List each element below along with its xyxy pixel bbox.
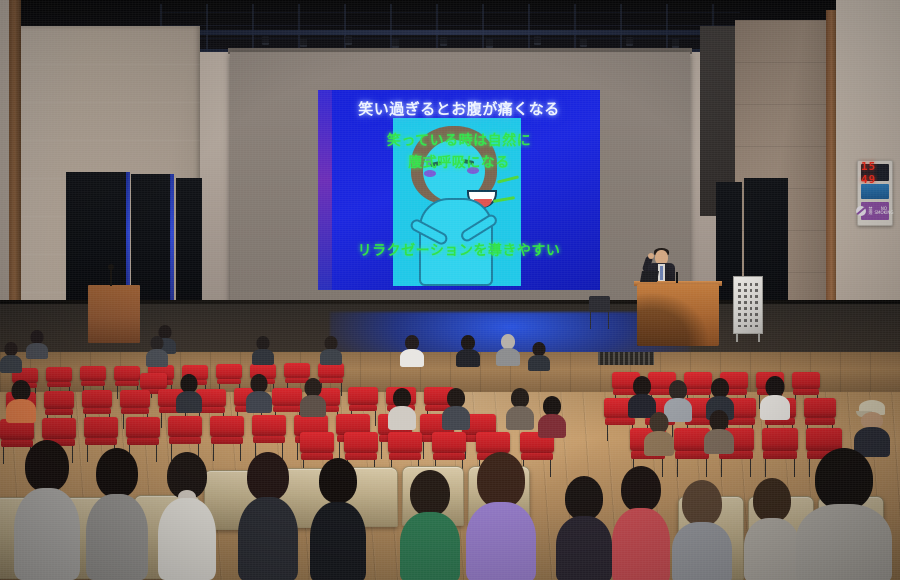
person-head — [461, 335, 475, 350]
audience-member — [506, 388, 534, 428]
podium-microphone — [676, 272, 678, 283]
audience-member — [456, 335, 480, 365]
audience-member — [496, 334, 520, 364]
audience-member-foreground — [466, 452, 536, 580]
audience-member-foreground — [14, 440, 80, 580]
audience-member — [704, 410, 734, 452]
person-head — [766, 376, 785, 397]
person-shoulders — [466, 502, 536, 580]
podium-laptop — [640, 271, 659, 282]
audience-member — [442, 388, 470, 428]
audience-member — [26, 330, 48, 358]
person-shoulders — [672, 522, 732, 580]
person-head — [31, 330, 44, 344]
person-head — [247, 452, 289, 501]
stage-signboard — [733, 276, 763, 334]
audience-member — [760, 376, 790, 418]
person-head — [565, 476, 603, 520]
person-shoulders — [252, 349, 274, 365]
no-smoking-sign: 禁 煙 NO SMOKING — [861, 202, 889, 220]
person-head — [511, 388, 529, 408]
audience-member — [388, 388, 416, 428]
person-shoulders — [796, 504, 892, 580]
audience-member-foreground — [86, 448, 148, 580]
person-head — [25, 440, 69, 492]
audience-member-foreground — [310, 458, 366, 580]
person-head — [257, 336, 270, 350]
person-shoulders — [146, 349, 168, 367]
stage-light-fixture — [672, 39, 679, 48]
person-shoulders — [644, 431, 674, 456]
wall-clock-unit: 15 49 禁 煙 NO SMOKING — [857, 160, 893, 226]
audience-member — [538, 396, 566, 436]
person-shoulders — [612, 508, 670, 580]
stage-floor-vent — [598, 352, 654, 365]
person-head — [815, 448, 873, 510]
person-shoulders — [26, 343, 48, 359]
person-shoulders — [388, 406, 416, 430]
person-shoulders — [0, 355, 22, 373]
person-head — [682, 480, 722, 526]
person-shoulders — [238, 497, 298, 580]
clock-time: 15 49 — [861, 160, 889, 186]
audience-member — [628, 376, 656, 416]
person-head — [325, 336, 338, 350]
person-head — [711, 378, 729, 398]
stage-light-fixture — [580, 38, 587, 47]
audience-member — [644, 412, 674, 454]
person-shoulders — [310, 502, 366, 580]
person-shoulders — [744, 518, 800, 580]
audience-member-foreground — [238, 452, 298, 580]
person-head — [501, 334, 515, 349]
person-shoulders — [86, 494, 148, 580]
no-smoking-icon — [856, 206, 866, 216]
person-shoulders — [528, 355, 550, 371]
cartoon-laugh-line — [497, 175, 519, 183]
person-head — [96, 448, 138, 498]
stage-chair — [589, 296, 610, 312]
signboard-vertical-text — [738, 283, 758, 327]
speaker-hand — [648, 253, 654, 259]
ceiling-lighting-grid — [160, 4, 740, 52]
person-shoulders — [246, 391, 272, 413]
audience-member — [6, 380, 36, 422]
person-shoulders — [456, 349, 480, 367]
audience-member — [320, 336, 342, 364]
signboard-legs — [736, 333, 760, 342]
person-head — [393, 388, 411, 408]
person-shoulders — [300, 395, 326, 417]
person-head — [151, 336, 164, 350]
audience-member-foreground — [158, 452, 216, 580]
person-shoulders — [400, 512, 460, 580]
audience-member — [146, 336, 168, 366]
person-head — [710, 410, 729, 431]
no-smoking-label-jp: 禁 煙 — [868, 207, 872, 216]
person-shoulders — [442, 406, 470, 430]
person-shoulders — [538, 414, 566, 438]
stage-chair-legs — [590, 311, 609, 329]
audience-member-foreground — [400, 470, 460, 580]
slide-line-3: 腹式呼吸になる — [318, 152, 600, 172]
person-head — [410, 470, 450, 516]
ceiling-truss-front — [170, 30, 730, 35]
stage-light-fixture — [262, 36, 269, 45]
slide-edge-glow — [318, 90, 332, 290]
person-shoulders — [320, 349, 342, 365]
audience-member — [252, 336, 274, 364]
auditorium-photo: 笑い過ぎるとお腹が痛くなる 笑っている時は自然に 腹式呼吸になる リラクゼーショ… — [0, 0, 900, 580]
person-shoulders — [506, 406, 534, 430]
slide-line-4: リラクゼーションを導きやすい — [318, 240, 600, 260]
clock-blue-panel — [861, 184, 889, 199]
audience-member — [246, 374, 272, 412]
audience-member-foreground — [796, 448, 892, 580]
person-head — [5, 342, 18, 356]
side-podium — [88, 285, 140, 343]
person-head — [12, 380, 31, 401]
person-head — [477, 452, 525, 508]
person-head — [405, 335, 419, 350]
person-head — [650, 412, 669, 433]
person-head — [669, 380, 687, 400]
clock-display: 15 49 — [861, 164, 889, 181]
speaker-tie — [660, 266, 663, 280]
no-smoking-label-en: NO SMOKING — [874, 207, 893, 216]
audience-member — [400, 335, 424, 365]
person-head — [633, 376, 651, 396]
audience-member — [528, 342, 550, 370]
presentation-slide: 笑い過ぎるとお腹が痛くなる 笑っている時は自然に 腹式呼吸になる リラクゼーショ… — [318, 90, 600, 290]
person-shoulders — [556, 516, 612, 580]
person-shoulders — [158, 498, 216, 580]
audience-member-foreground — [744, 478, 800, 580]
person-head — [543, 396, 561, 416]
audience-member — [300, 378, 326, 416]
audience-member-foreground — [556, 476, 612, 580]
projection-screen: 笑い過ぎるとお腹が痛くなる 笑っている時は自然に 腹式呼吸になる リラクゼーショ… — [230, 52, 690, 302]
stage-light-fixture — [534, 36, 541, 45]
main-podium — [637, 284, 719, 346]
stage-light-fixture — [626, 37, 633, 46]
stage-light-fixture — [486, 39, 493, 48]
person-shoulders — [704, 429, 734, 454]
audience-member-foreground — [672, 480, 732, 580]
stage-light-fixture — [300, 38, 307, 47]
stage-light-fixture — [440, 37, 447, 46]
stage-light-fixture — [392, 39, 399, 48]
stage-light-fixture — [345, 36, 352, 45]
slide-headline: 笑い過ぎるとお腹が痛くなる — [318, 98, 600, 119]
side-podium-microphone — [110, 268, 112, 286]
person-shoulders — [400, 349, 424, 367]
person-head — [447, 388, 465, 408]
person-shoulders — [176, 391, 202, 413]
person-shoulders — [6, 399, 36, 423]
person-shoulders — [760, 395, 790, 420]
person-head — [753, 478, 791, 522]
audience-member-foreground — [612, 466, 670, 580]
person-shoulders — [496, 348, 520, 366]
person-head — [621, 466, 661, 512]
audience-member — [0, 342, 22, 370]
slide-line-2: 笑っている時は自然に — [318, 130, 600, 150]
person-shoulders — [14, 488, 80, 580]
audience-member — [176, 374, 202, 412]
person-head — [533, 342, 546, 356]
